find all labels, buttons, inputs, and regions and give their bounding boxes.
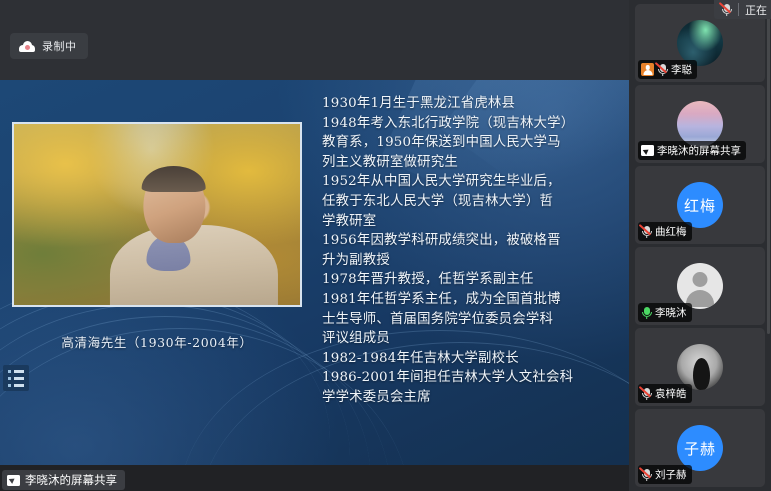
- participant-namebar: 李晓沐的屏幕共享: [638, 141, 746, 160]
- participant-tile[interactable]: 子赫 刘子赫: [635, 409, 765, 487]
- participant-tile[interactable]: 红梅 曲红梅: [635, 166, 765, 244]
- mic-muted-icon: [641, 468, 652, 481]
- participant-filmstrip[interactable]: 李聪 李晓沐的屏幕共享 红梅 曲红梅 李晓沐: [629, 0, 771, 491]
- bio-line: 教育系，1950年保送到中国人民大学马: [322, 133, 624, 153]
- self-chip-label: 正在: [745, 2, 767, 18]
- self-mic-status-chip[interactable]: 正在: [714, 0, 771, 19]
- host-badge-icon: [641, 63, 654, 76]
- participant-name: 刘子赫: [655, 467, 687, 482]
- bio-line: 1930年1月生于黑龙江省虎林县: [322, 94, 624, 114]
- mic-muted-icon[interactable]: [721, 3, 732, 16]
- portrait-caption: 高清海先生（1930年-2004年）: [12, 332, 302, 351]
- stage-top-letterbox: [0, 0, 629, 80]
- bio-line: 列主义教研室做研究生: [322, 153, 624, 173]
- participant-namebar: 曲红梅: [638, 222, 692, 241]
- bio-line: 1948年考入东北行政学院（现吉林大学）: [322, 114, 624, 134]
- screen-share-owner-label: 李晓沐的屏幕共享: [25, 472, 117, 488]
- bio-line: 1978年晋升教授，任哲学系副主任: [322, 270, 624, 290]
- biography-text-block: 1930年1月生于黑龙江省虎林县 1948年考入东北行政学院（现吉林大学） 教育…: [322, 94, 624, 408]
- mic-on-icon: [641, 306, 652, 319]
- portrait-body: [110, 225, 278, 305]
- participant-name: 曲红梅: [655, 224, 687, 239]
- participant-namebar: 袁梓皓: [638, 384, 692, 403]
- participant-namebar: 李晓沐: [638, 303, 692, 322]
- bio-line: 升为副教授: [322, 251, 624, 271]
- bio-line: 1981年任哲学系主任，成为全国首批博: [322, 290, 624, 310]
- participant-name: 袁梓皓: [655, 386, 687, 401]
- slide-decor-swoosh: [0, 280, 330, 465]
- bio-line: 1986-2001年间担任吉林大学人文社会科: [322, 368, 624, 388]
- bio-line: 评议组成员: [322, 329, 624, 349]
- slide-decor-swoosh: [0, 292, 350, 465]
- participant-namebar: 刘子赫: [638, 465, 692, 484]
- portrait-hair: [142, 166, 206, 192]
- bio-line: 1956年因教学科研成绩突出，被破格晋: [322, 231, 624, 251]
- slide-decor-swoosh: [0, 304, 370, 465]
- bio-line: 学学术委员会主席: [322, 388, 624, 408]
- mic-muted-icon: [657, 63, 668, 76]
- participant-name: 李晓沐的屏幕共享: [657, 143, 741, 158]
- participant-tile[interactable]: 李晓沐: [635, 247, 765, 325]
- portrait-photo-image: [14, 124, 300, 305]
- bio-line: 1952年从中国人民大学研究生毕业后，: [322, 172, 624, 192]
- portrait-photo: [12, 122, 302, 307]
- cloud-recording-icon: [19, 41, 35, 52]
- participant-namebar: 李聪: [638, 60, 697, 79]
- shared-screen-stage[interactable]: 录制中 高清海先生（1930年-2004年）: [0, 0, 629, 491]
- mic-muted-icon: [641, 225, 652, 238]
- bio-line: 任教于东北人民大学（现吉林大学）哲: [322, 192, 624, 212]
- bio-line: 士生导师、首届国务院学位委员会学科: [322, 310, 624, 330]
- participant-name: 李聪: [671, 62, 692, 77]
- bio-line: 1982-1984年任吉林大学副校长: [322, 349, 624, 369]
- presentation-slide: 高清海先生（1930年-2004年） 1930年1月生于黑龙江省虎林县 1948…: [0, 80, 629, 465]
- participant-name: 李晓沐: [655, 305, 687, 320]
- recording-label: 录制中: [42, 38, 77, 54]
- meeting-window: 录制中 高清海先生（1930年-2004年）: [0, 0, 771, 491]
- participant-tile[interactable]: 李晓沐的屏幕共享: [635, 85, 765, 163]
- screen-share-status-bar: 李晓沐的屏幕共享: [2, 470, 125, 490]
- participant-tile[interactable]: 袁梓皓: [635, 328, 765, 406]
- divider: [738, 3, 739, 16]
- mic-muted-icon: [641, 387, 652, 400]
- screen-share-icon: [7, 475, 20, 486]
- recording-indicator: 录制中: [10, 33, 88, 59]
- screen-share-icon: [641, 145, 654, 156]
- filmstrip-scrollbar[interactable]: [767, 4, 770, 334]
- bio-line: 学教研室: [322, 212, 624, 232]
- slide-outline-icon[interactable]: [3, 365, 29, 391]
